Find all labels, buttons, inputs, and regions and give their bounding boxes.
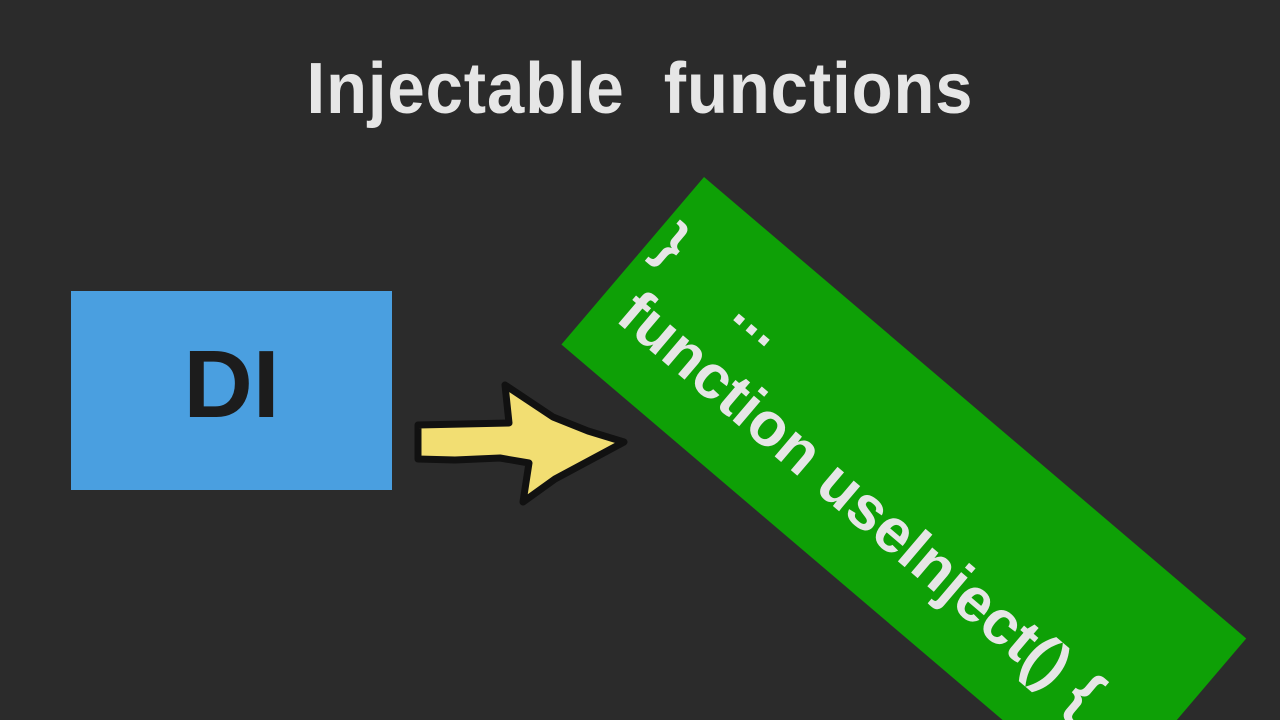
right-arrow-icon (405, 375, 635, 515)
code-line-function-signature: function useInject() { (604, 278, 1116, 720)
right-arrow-svg (405, 375, 635, 515)
di-box-label: DI (71, 337, 392, 433)
di-box: DI (71, 291, 392, 490)
page-title: Injectable functions (45, 48, 1235, 130)
slide-canvas: Injectable functions DI } ... function u… (0, 0, 1280, 720)
arrow-shape (418, 385, 624, 502)
code-box: } ... function useInject() { (561, 177, 1246, 720)
